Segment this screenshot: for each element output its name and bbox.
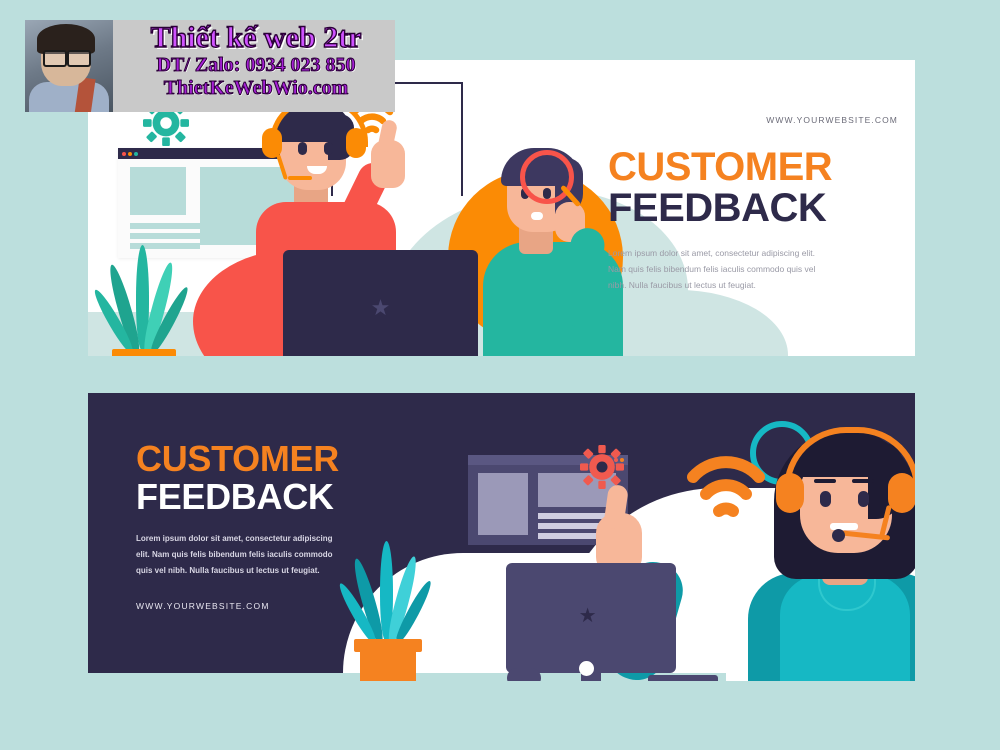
watermark-photo (25, 20, 113, 112)
magnifier-icon (520, 150, 574, 204)
mouse-icon (507, 668, 541, 681)
headset-earcup-left (776, 473, 804, 513)
star-icon: ★ (579, 606, 597, 626)
watermark-person-body (29, 82, 109, 112)
pot-body (360, 652, 416, 681)
content-block (478, 473, 528, 535)
monitor-power-button (579, 661, 594, 676)
light-banner-text-block: WWW.YOURWEBSITE.COM CUSTOMER FEEDBACK Lo… (608, 115, 898, 293)
watermark-line-3: ThietKeWebWio.com (117, 77, 395, 100)
customer-feedback-banner-dark: CUSTOMER FEEDBACK Lorem ipsum dolor sit … (88, 393, 915, 681)
heading-feedback: FEEDBACK (608, 187, 898, 229)
body-paragraph: Lorem ipsum dolor sit amet, consectetur … (608, 245, 823, 293)
operator-eye-right (858, 491, 869, 507)
window-dot-red (122, 152, 126, 156)
plant-icon (106, 245, 186, 356)
content-block (130, 167, 186, 215)
watermark-line-1: Thiết kế web 2tr (117, 22, 395, 54)
watermark-line-2: DT/ Zalo: 0934 023 850 (117, 54, 395, 77)
window-dot-orange (128, 152, 132, 156)
heading-feedback: FEEDBACK (136, 477, 436, 517)
headset-earcup-right (346, 128, 366, 158)
pot-rim (354, 639, 422, 652)
operator-figure (718, 407, 915, 681)
watermark-glasses-right (67, 50, 91, 67)
pot-rim (112, 349, 176, 356)
customer-mouth (531, 212, 543, 220)
watermark-overlay: Thiết kế web 2tr DT/ Zalo: 0934 023 850 … (25, 20, 395, 112)
headset-earcup-right (888, 473, 915, 513)
plant-icon (350, 541, 430, 681)
operator-eye-left (820, 491, 831, 507)
gear-icon (580, 445, 624, 489)
body-paragraph: Lorem ipsum dolor sit amet, consectetur … (136, 531, 346, 579)
website-url-top: WWW.YOURWEBSITE.COM (608, 115, 898, 125)
monitor-screen: ★ (283, 250, 478, 356)
headset-mic-arm (288, 176, 312, 180)
watermark-glasses-left (43, 50, 67, 67)
heading-customer: CUSTOMER (608, 147, 898, 187)
headset-mic (832, 529, 845, 542)
window-dot-teal (134, 152, 138, 156)
heading-customer: CUSTOMER (136, 441, 436, 477)
content-line (130, 223, 200, 229)
star-icon: ★ (371, 297, 391, 319)
poster-canvas: ★ WWW.YOURWEBSITE.COM CUSTOMER FEEDBACK … (0, 0, 1000, 750)
keyboard-icon (648, 675, 718, 681)
monitor-screen: ★ (506, 563, 676, 673)
watermark-text: Thiết kế web 2tr DT/ Zalo: 0934 023 850 … (117, 20, 395, 100)
content-line (130, 233, 200, 239)
